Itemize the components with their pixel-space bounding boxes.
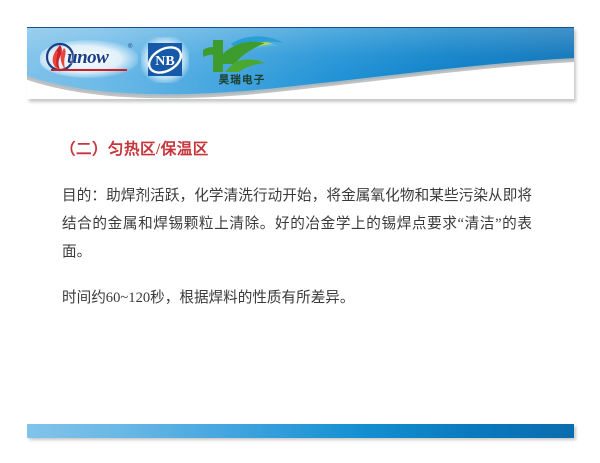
header-logo-group: unow ® NB [43, 32, 289, 88]
logo-hao-rui: 昊瑞电子 [195, 34, 289, 86]
hao-rui-swoosh-icon: 昊瑞电子 [195, 34, 289, 86]
svg-text:NB: NB [155, 54, 174, 69]
registered-trademark-icon: ® [128, 44, 132, 50]
svg-text:昊瑞电子: 昊瑞电子 [219, 73, 266, 86]
body-paragraph-purpose: 目的：助焊剂活跃，化学清洗行动开始，将金属氧化物和某些污染从即将结合的金属和焊锡… [62, 182, 532, 266]
page-title: （二）匀热区/保温区 [60, 137, 209, 159]
logo-unow-wordmark: unow [67, 47, 108, 69]
nb-ellipse-icon: NB [145, 40, 185, 80]
logo-nb: NB [145, 40, 185, 80]
footer-accent-bar [27, 424, 574, 438]
body-paragraph-duration: 时间约60~120秒，根据焊料的性质有所差异。 [62, 284, 532, 312]
logo-unow: unow ® [43, 40, 135, 80]
header-top-rule [27, 27, 574, 28]
logo-unow-underline [51, 69, 127, 71]
slide-canvas: unow ® NB [0, 0, 600, 463]
